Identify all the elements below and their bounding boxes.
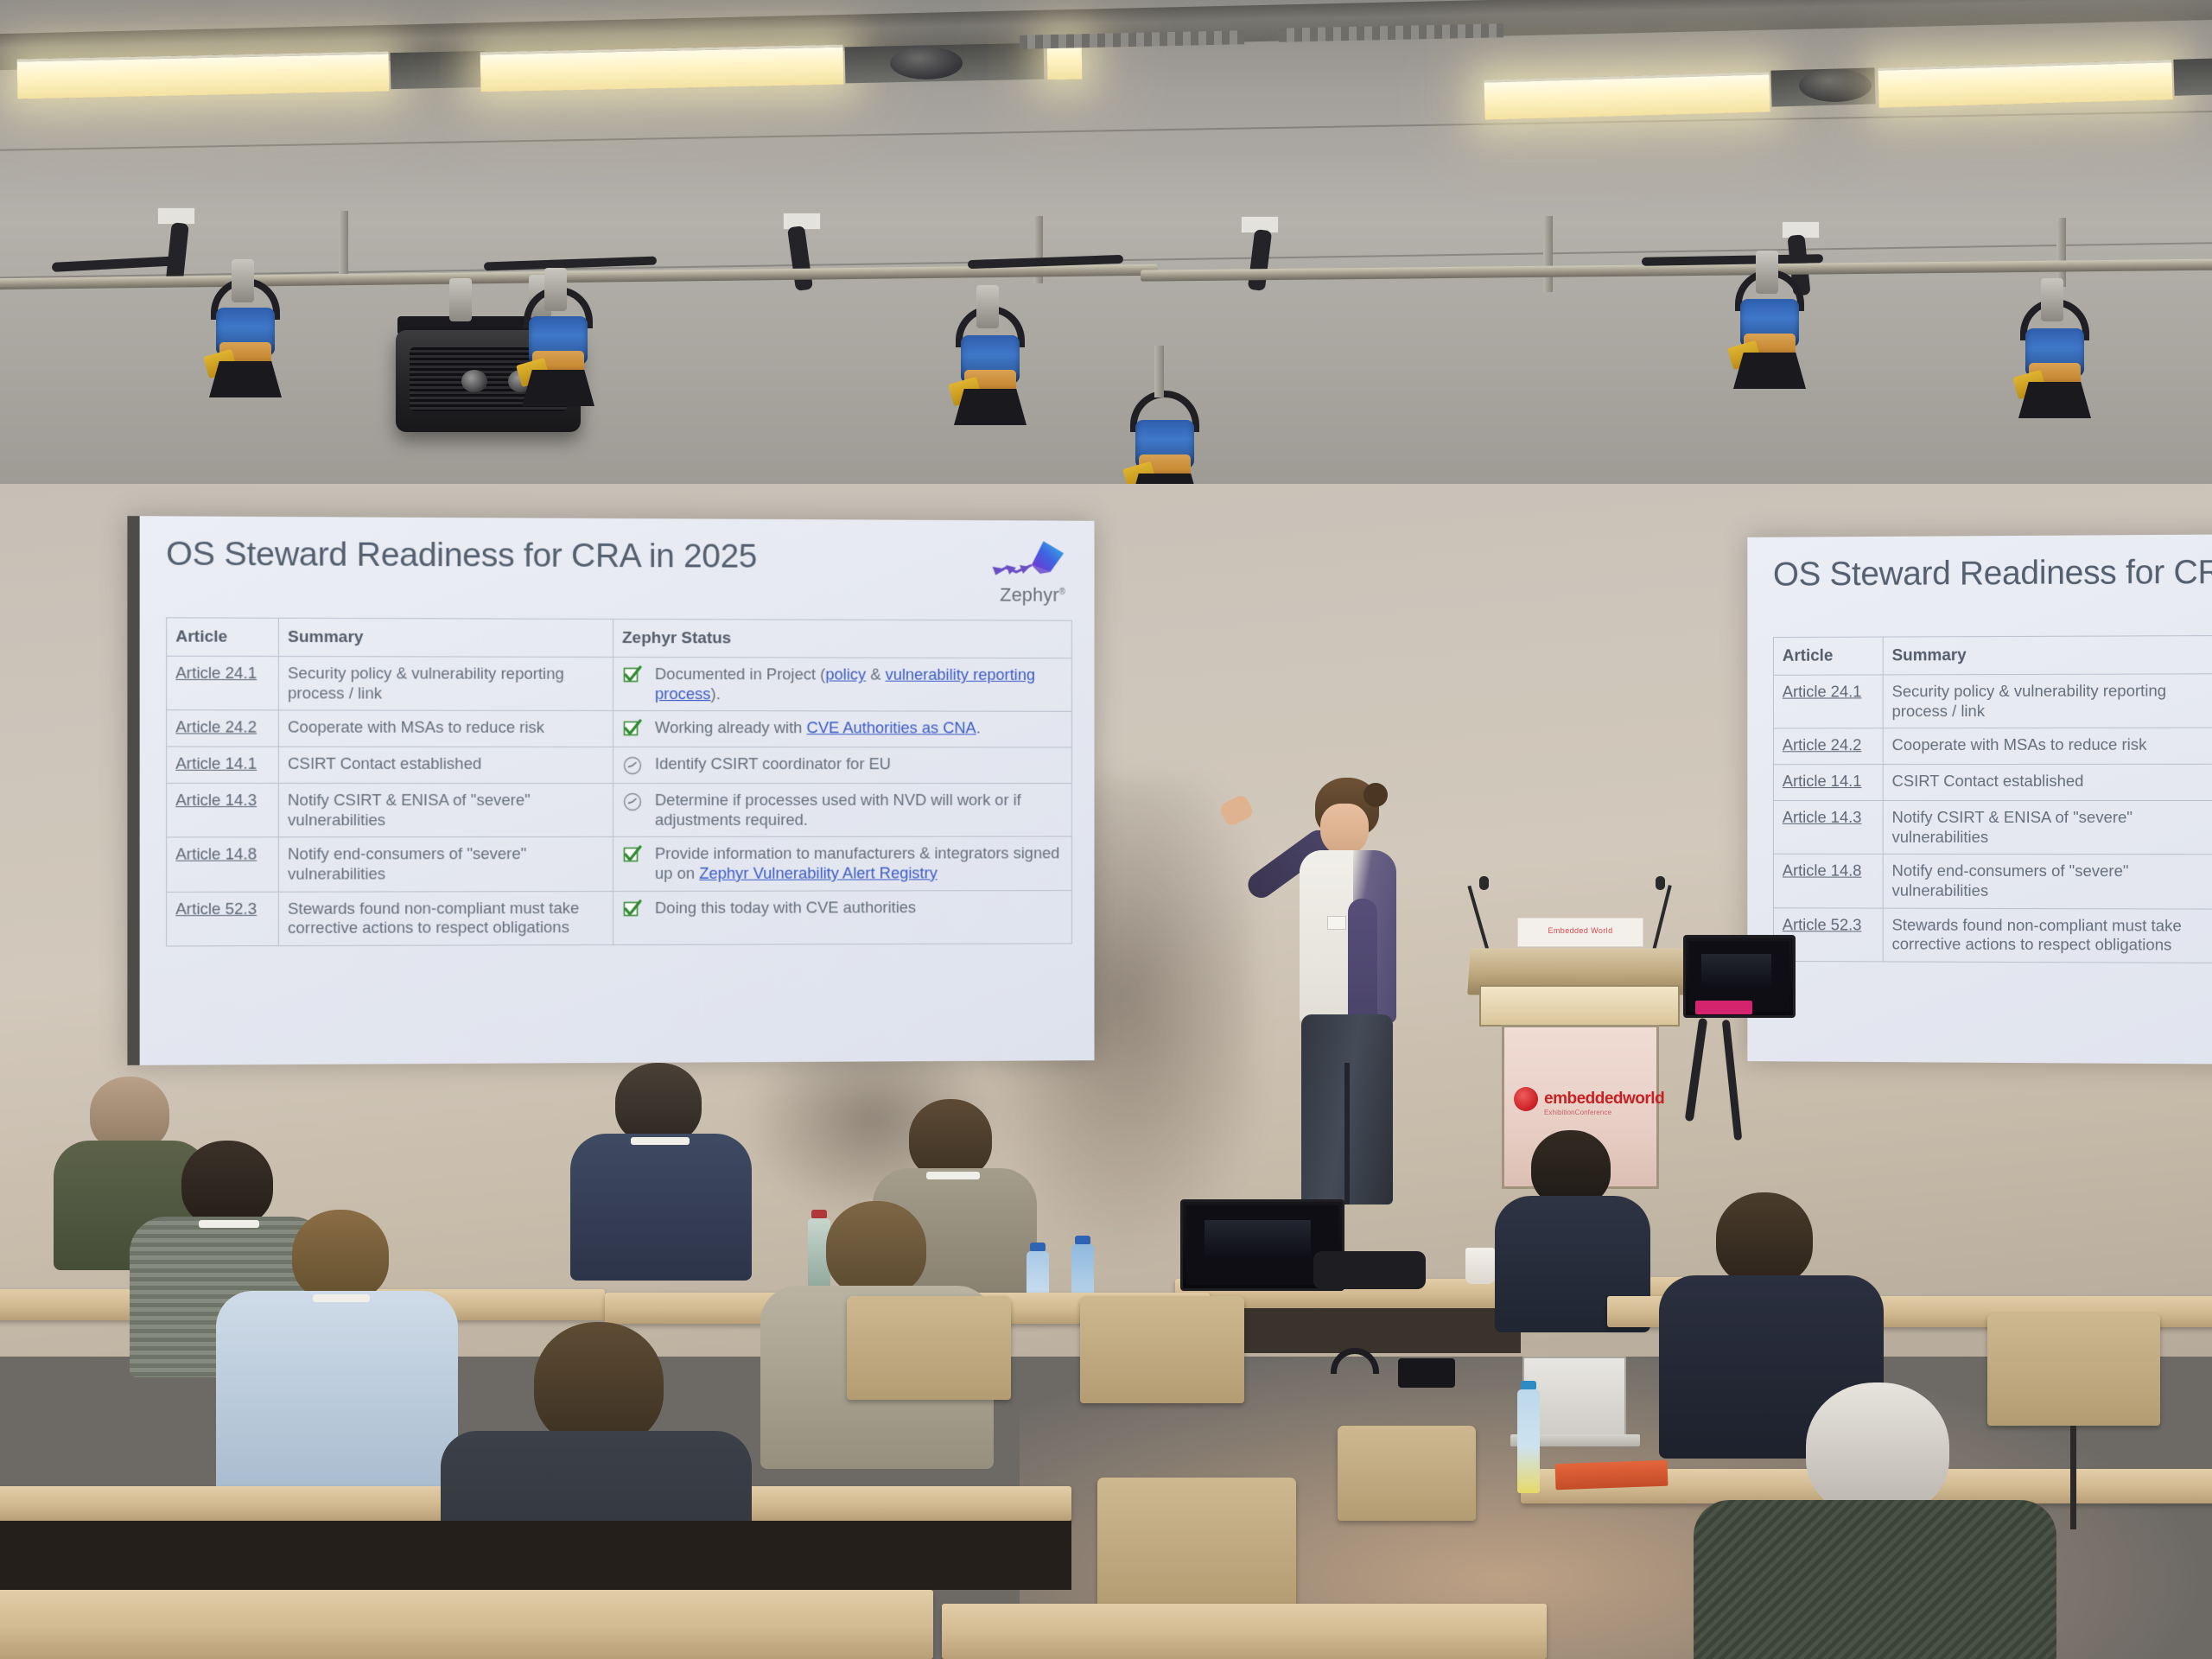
cell-summary: Security policy & vulnerability reportin… (278, 657, 613, 711)
green-checked-box-icon (622, 845, 643, 866)
table-row: Article 14.3Notify CSIRT & ENISA of "sev… (167, 784, 1072, 838)
table-row: Article 24.2Cooperate with MSAs to reduc… (167, 710, 1072, 747)
clock-circle-icon (622, 791, 643, 812)
article-link[interactable]: Article 52.3 (1783, 915, 1862, 933)
cell-article: Article 14.8 (167, 837, 279, 892)
ceiling-rod (2056, 218, 2066, 287)
cell-summary: Cooperate with MSAs to reduce risk (278, 710, 613, 747)
th-status: Zephyr Status (613, 619, 1072, 658)
lectern-brand-text: embeddedworld (1544, 1090, 1664, 1109)
cell-status: Working already with CVE Authorities as … (613, 711, 1072, 747)
laptop-bag (1313, 1251, 1426, 1289)
slide-title-duplicate: OS Steward Readiness for CRA in 2025 (1773, 553, 2212, 594)
chair (1097, 1478, 1296, 1607)
table-header-row: Article Summary Zephyr Status (167, 618, 1072, 658)
zephyr-kite-logo (988, 539, 1066, 588)
desk-row-front (0, 1590, 933, 1659)
lectern-tagline: ExhibitionConference (1544, 1109, 1611, 1116)
green-checked-box-icon (622, 899, 643, 919)
ceiling-cable (787, 226, 813, 291)
table-row: Article 14.1CSIRT Contact establishedIde… (167, 747, 1072, 783)
ceiling (0, 0, 2212, 518)
cell-summary: Stewards found non-compliant must take c… (1883, 908, 2212, 963)
cell-article: Article 14.3 (1773, 801, 1883, 855)
cell-summary: CSIRT Contact established (1883, 765, 2212, 801)
cell-status: Provide information to manufacturers & i… (613, 836, 1072, 891)
green-checked-box-icon (622, 665, 643, 686)
article-link[interactable]: Article 14.1 (1783, 772, 1862, 790)
status-hyperlink[interactable]: Zephyr Vulnerability Alert Registry (699, 863, 938, 881)
green-checked-box-icon (622, 719, 643, 740)
cell-article: Article 24.1 (167, 656, 279, 710)
cell-status: Identify CSIRT coordinator for EU (613, 747, 1072, 784)
status-text: Documented in Project (policy & vulnerab… (655, 664, 1063, 704)
table-body: Article 24.1Security policy & vulnerabil… (167, 656, 1072, 945)
monitor-label (1695, 1001, 1752, 1014)
cell-status: Determine if processes used with NVD wil… (613, 784, 1072, 837)
slide-title: OS Steward Readiness for CRA in 2025 (166, 536, 757, 576)
microphone-head (1656, 876, 1665, 890)
microphone-head (1479, 876, 1489, 890)
presentation-slide-duplicate: OS Steward Readiness for CRA in 2025 Zep… (1747, 534, 2212, 1065)
table-row: Article 52.3Stewards found non-compliant… (1773, 907, 2212, 964)
status-text: Identify CSIRT coordinator for EU (655, 754, 1063, 774)
presenter-badge (1327, 916, 1346, 930)
article-link[interactable]: Article 24.2 (175, 718, 257, 736)
cell-article: Article 14.3 (167, 784, 279, 838)
lecture-hall-photo: OS Steward Readiness for CRA in 2025 (0, 0, 2212, 1659)
article-link[interactable]: Article 14.8 (175, 845, 257, 863)
presenter (1236, 778, 1426, 1210)
table-row: Article 24.2Cooperate with MSAs to reduc… (1773, 727, 2212, 765)
cell-status: Documented in Project (policy & vulnerab… (613, 658, 1072, 712)
projection-screen-secondary: OS Steward Readiness for CRA in 2025 Zep… (1747, 534, 2212, 1065)
coffee-cup (1465, 1248, 1495, 1284)
table-row: Article 24.1Security policy & vulnerabil… (1773, 672, 2212, 728)
th-article: Article (167, 618, 279, 657)
lectern-name-card: Embedded World (1517, 918, 1643, 947)
green-checked-box-icon (622, 899, 643, 919)
chair (1080, 1296, 1244, 1403)
zephyr-logo: Zephyr® (988, 539, 1066, 607)
table-row: Article 14.8Notify end-consumers of "sev… (1773, 855, 2212, 911)
cell-article: Article 14.8 (1773, 855, 1883, 908)
presentation-slide: OS Steward Readiness for CRA in 2025 (140, 516, 1095, 1065)
cell-article: Article 14.1 (1773, 765, 1883, 801)
audience-member-front (1694, 1382, 2056, 1659)
article-link[interactable]: Article 24.1 (1783, 683, 1862, 701)
audience-member (570, 1063, 752, 1279)
cell-article: Article 14.1 (167, 747, 279, 783)
cell-article: Article 52.3 (167, 892, 279, 946)
juice-bottle (1517, 1389, 1540, 1493)
cell-summary: Notify end-consumers of "severe" vulnera… (278, 837, 613, 892)
green-checked-box-icon (622, 719, 643, 740)
article-link[interactable]: Article 24.1 (175, 664, 257, 682)
ceiling-light-panel (17, 52, 390, 99)
desk-row-front (942, 1604, 1547, 1659)
clock-circle-icon (622, 791, 643, 812)
status-hyperlink[interactable]: policy (825, 665, 866, 683)
ceiling-speaker (890, 47, 963, 79)
cell-summary: Notify CSIRT & ENISA of "severe" vulnera… (278, 784, 613, 838)
status-text: Provide information to manufacturers & i… (655, 844, 1063, 884)
phone (1398, 1358, 1455, 1388)
audience-member (216, 1210, 458, 1486)
ceiling-cable (1248, 229, 1272, 291)
green-checked-box-icon (622, 665, 643, 686)
ceiling-rod (1543, 216, 1553, 292)
table-row: Article 14.8Notify end-consumers of "sev… (167, 836, 1072, 892)
chair (847, 1296, 1011, 1400)
th-summary: Summary (278, 618, 613, 657)
ceiling-light-panel (480, 45, 844, 92)
embedded-world-icon (1514, 1087, 1538, 1111)
article-link[interactable]: Article 14.3 (1783, 808, 1862, 826)
booklet (1555, 1460, 1669, 1491)
cell-summary: Security policy & vulnerability reportin… (1883, 674, 2212, 728)
article-link[interactable]: Article 52.3 (175, 899, 257, 917)
table-row: Article 24.1Security policy & vulnerabil… (167, 656, 1072, 711)
zephyr-wordmark: Zephyr® (1000, 584, 1065, 607)
chair (1338, 1426, 1476, 1521)
cell-summary: Cooperate with MSAs to reduce risk (1883, 728, 2212, 765)
article-link[interactable]: Article 14.8 (1783, 861, 1862, 880)
table-row: Article 14.1CSIRT Contact establishedIde… (1773, 764, 2212, 801)
presenter-face (1320, 804, 1369, 855)
status-text: Doing this today with CVE authorities (655, 898, 1063, 918)
status-hyperlink[interactable]: CVE Authorities as CNA (807, 719, 976, 737)
ceiling-rod (339, 211, 348, 280)
cra-readiness-table: Article Summary Zephyr Status Article 24… (166, 617, 1072, 946)
cell-article: Article 24.2 (167, 710, 279, 747)
cell-article: Article 24.2 (1773, 728, 1883, 765)
cell-summary: Notify end-consumers of "severe" vulnera… (1883, 855, 2212, 909)
ceiling-speaker (1799, 69, 1872, 102)
clock-circle-icon (622, 755, 643, 776)
status-text: Working already with CVE Authorities as … (655, 718, 1063, 738)
article-link[interactable]: Article 14.1 (175, 754, 257, 772)
table-row: Article 14.3Notify CSIRT & ENISA of "sev… (1773, 801, 2212, 855)
ceiling-light-panel (1484, 72, 1770, 119)
cell-summary: Notify CSIRT & ENISA of "severe" vulnera… (1883, 801, 2212, 855)
status-text: Determine if processes used with NVD wil… (655, 791, 1063, 829)
table-row: Article 52.3Stewards found non-compliant… (167, 890, 1072, 946)
cell-status: Doing this today with CVE authorities (613, 890, 1072, 944)
cell-summary: CSIRT Contact established (278, 747, 613, 783)
ceiling-light-panel (1878, 60, 2172, 107)
cell-article: Article 24.1 (1773, 675, 1883, 728)
cell-summary: Stewards found non-compliant must take c… (278, 891, 613, 945)
clock-circle-icon (622, 755, 643, 776)
green-checked-box-icon (622, 845, 643, 866)
article-link[interactable]: Article 14.3 (175, 791, 257, 809)
projection-screen-main: OS Steward Readiness for CRA in 2025 (127, 516, 1094, 1065)
cra-readiness-table-duplicate: Article Summary Zephyr Status Article 24… (1773, 633, 2212, 965)
article-link[interactable]: Article 24.2 (1783, 736, 1862, 754)
